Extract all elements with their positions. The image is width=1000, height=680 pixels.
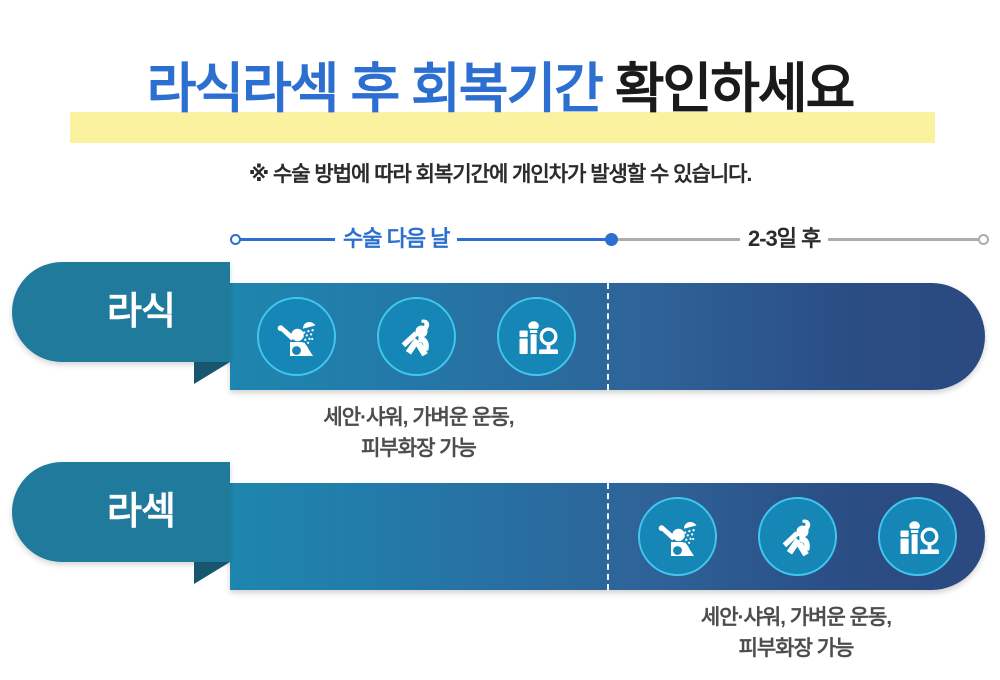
bar-stage-divider — [607, 283, 609, 390]
recovery-row-lasek: 라섹 세안·샤워, 가벼운 운동, 피부화장 가능 — [0, 462, 1000, 672]
page-subtitle: ※ 수술 방법에 따라 회복기간에 개인차가 발생할 수 있습니다. — [0, 158, 1000, 188]
exercise-icon — [758, 497, 837, 576]
row-label-lasek: 라섹 — [12, 462, 230, 562]
recovery-bar-lasik — [230, 283, 985, 390]
caption-line-1: 세안·샤워, 가벼운 운동, — [230, 402, 607, 433]
page-title: 라식라섹 후 회복기간 확인하세요 — [0, 62, 1000, 116]
timeline: 수술 다음 날 2-3일 후 — [0, 215, 1000, 265]
makeup-icon — [497, 297, 576, 376]
timeline-node-start — [230, 234, 241, 245]
row-label-fold — [194, 362, 230, 384]
timeline-label-stage-1: 수술 다음 날 — [335, 226, 457, 252]
bar-stage-divider — [607, 483, 609, 590]
shower-icon — [638, 497, 717, 576]
page-title-primary: 라식라섹 후 회복기간 — [147, 59, 602, 119]
caption-line-2: 피부화장 가능 — [607, 633, 985, 664]
makeup-icon — [878, 497, 957, 576]
row-label-text: 라식 — [67, 293, 175, 331]
row-label-lasik: 라식 — [12, 262, 230, 362]
timeline-label-stage-2: 2-3일 후 — [740, 226, 828, 252]
caption-line-1: 세안·샤워, 가벼운 운동, — [607, 602, 985, 633]
recovery-caption-lasek: 세안·샤워, 가벼운 운동, 피부화장 가능 — [607, 602, 985, 664]
caption-line-2: 피부화장 가능 — [230, 433, 607, 464]
recovery-row-lasik: 라식 세안·샤워, 가벼운 운동, 피부화장 가능 — [0, 262, 1000, 452]
row-label-fold — [194, 562, 230, 584]
page-title-secondary: 확인하세요 — [615, 59, 853, 119]
timeline-node-middle — [605, 233, 618, 246]
exercise-icon — [377, 297, 456, 376]
header: 라식라섹 후 회복기간 확인하세요 ※ 수술 방법에 따라 회복기간에 개인차가… — [0, 0, 1000, 210]
shower-icon — [257, 297, 336, 376]
row-label-text: 라섹 — [67, 493, 175, 531]
recovery-caption-lasik: 세안·샤워, 가벼운 운동, 피부화장 가능 — [230, 402, 607, 464]
timeline-node-end — [978, 234, 989, 245]
recovery-bar-lasek — [230, 483, 985, 590]
